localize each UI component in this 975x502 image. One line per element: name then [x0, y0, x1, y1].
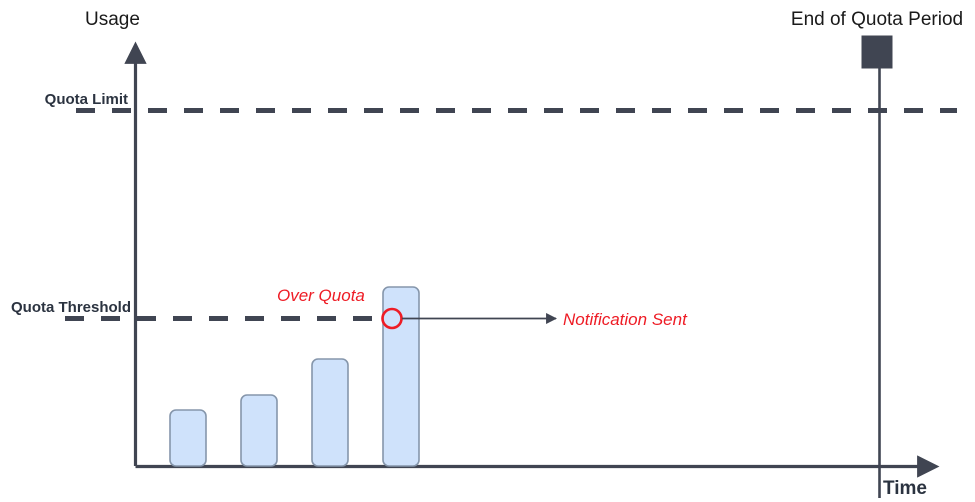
quota-threshold-label: Quota Threshold: [11, 299, 131, 316]
quota-limit-group: Quota Limit: [45, 91, 957, 111]
usage-bar[interactable]: [241, 395, 277, 466]
over-quota-label: Over Quota: [277, 286, 365, 305]
quota-usage-diagram: Usage Time Quota Limit Quota Threshold O…: [0, 0, 975, 502]
usage-bar[interactable]: [170, 410, 206, 466]
end-of-quota-period-marker-icon[interactable]: [862, 36, 892, 68]
end-of-quota-period-label: End of Quota Period: [791, 9, 963, 30]
y-axis-label: Usage: [85, 9, 140, 30]
quota-limit-label: Quota Limit: [45, 91, 128, 108]
end-of-quota-period-group: End of Quota Period: [791, 9, 963, 498]
usage-bars-group: [170, 287, 419, 466]
diagram-canvas: Usage Time Quota Limit Quota Threshold O…: [0, 0, 975, 502]
usage-bar[interactable]: [312, 359, 348, 466]
notification-sent-label: Notification Sent: [563, 310, 688, 329]
x-axis-label: Time: [883, 478, 927, 499]
notification-callout-group: Notification Sent: [402, 310, 688, 329]
